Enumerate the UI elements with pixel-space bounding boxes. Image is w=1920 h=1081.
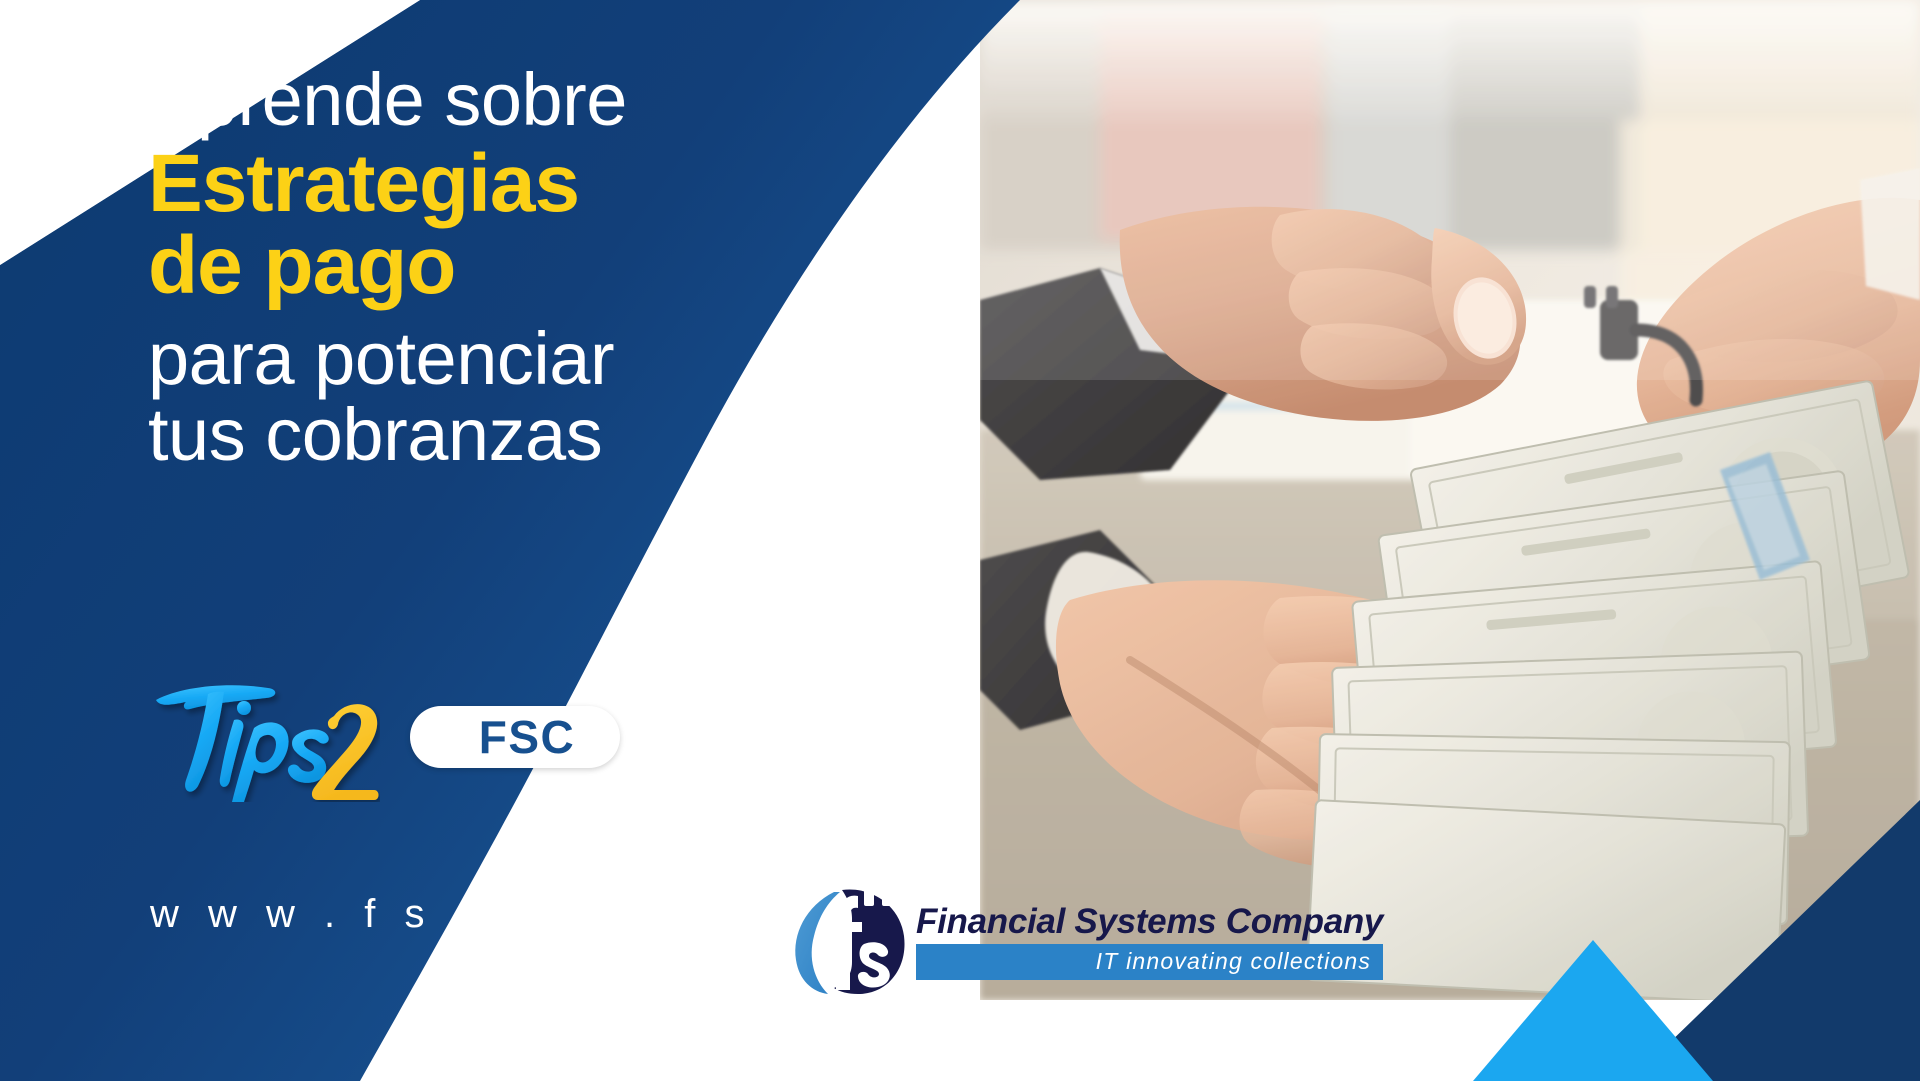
- company-name: Financial Systems Company: [916, 904, 1383, 941]
- company-logo[interactable]: Financial Systems Company IT innovating …: [790, 888, 1383, 996]
- headline-line-3: de pago: [148, 225, 908, 307]
- headline-line-4: para potenciar: [148, 321, 908, 396]
- company-text-block: Financial Systems Company IT innovating …: [916, 904, 1383, 980]
- fsc-pill-label: FSC: [479, 714, 576, 760]
- headline-block: Aprende sobre Estrategias de pago para p…: [148, 62, 908, 472]
- headline-line-2: Estrategias: [148, 143, 908, 225]
- tips2-script-logo[interactable]: [148, 672, 380, 802]
- website-url[interactable]: w w w . f s c - i n t . c o m: [150, 892, 858, 937]
- banner-canvas: Aprende sobre Estrategias de pago para p…: [0, 0, 1920, 1081]
- fsc-pill-badge[interactable]: FSC: [410, 706, 620, 768]
- headline-line-5: tus cobranzas: [148, 397, 908, 472]
- corner-shapes-bottom-right: [1230, 640, 1920, 1081]
- headline-line-1: Aprende sobre: [148, 62, 908, 137]
- tips-brand-row[interactable]: FSC: [148, 672, 620, 802]
- company-tagline-bar: IT innovating collections: [916, 944, 1383, 980]
- fsc-logo-mark-icon: [790, 888, 908, 996]
- company-tagline: IT innovating collections: [1096, 948, 1371, 975]
